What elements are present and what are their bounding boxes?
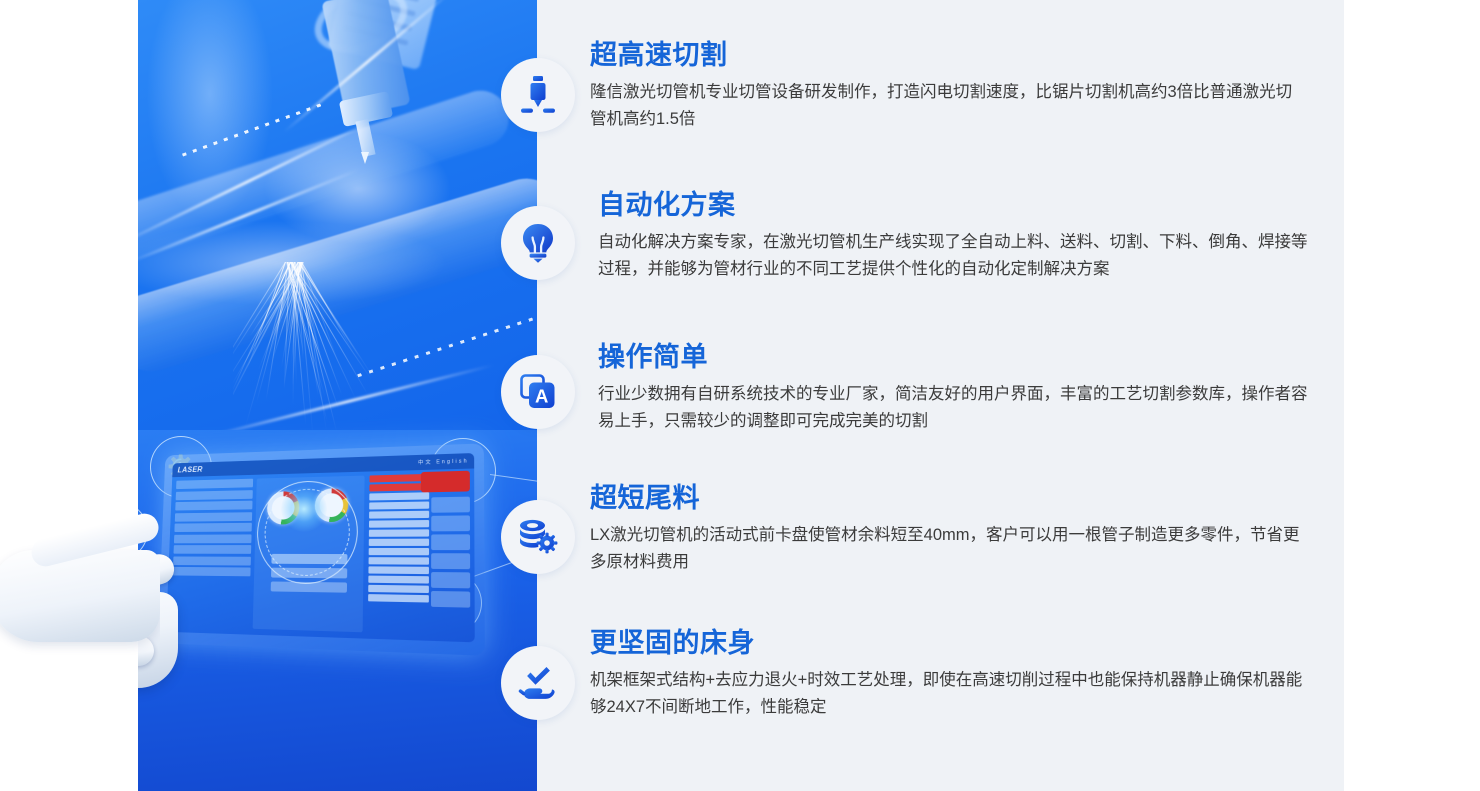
feature-text-block: 超短尾料 LX激光切管机的活动式前卡盘使管材余料短至40mm，客户可以用一根管子… bbox=[590, 483, 1344, 575]
feature-title: 更坚固的床身 bbox=[590, 628, 1344, 660]
feature-title: 超高速切割 bbox=[590, 40, 1344, 72]
hmi-logo: LASER bbox=[178, 465, 203, 474]
feature-showcase-page: ⚙️ ☁ 💻 LASER 中文 English bbox=[0, 0, 1480, 791]
laser-cutting-head-icon[interactable] bbox=[501, 58, 575, 132]
lightbulb-icon[interactable] bbox=[501, 206, 575, 280]
interface-cards-a-icon[interactable]: A bbox=[501, 355, 575, 429]
hand-check-icon[interactable] bbox=[501, 646, 575, 720]
feature-title: 超短尾料 bbox=[590, 483, 1344, 515]
feature-list: 超高速切割 隆信激光切管机专业切管设备研发制作，打造闪电切割速度，比锯片切割机高… bbox=[537, 0, 1344, 791]
feature-description: 自动化解决方案专家，在激光切管机生产线实现了全自动上料、送料、切割、下料、倒角、… bbox=[598, 229, 1313, 282]
laser-cutting-photo bbox=[138, 0, 537, 470]
feature-title: 自动化方案 bbox=[598, 190, 1352, 222]
feature-description: LX激光切管机的活动式前卡盘使管材余料短至40mm，客户可以用一根管子制造更多零… bbox=[590, 522, 1305, 575]
touch-glow bbox=[281, 486, 327, 532]
feature-description: 隆信激光切管机专业切管设备研发制作，打造闪电切割速度，比锯片切割机高约3倍比普通… bbox=[590, 79, 1305, 132]
feature-title: 操作简单 bbox=[598, 342, 1352, 374]
feature-text-block: 超高速切割 隆信激光切管机专业切管设备研发制作，打造闪电切割速度，比锯片切割机高… bbox=[590, 40, 1344, 132]
svg-text:A: A bbox=[535, 386, 548, 407]
feature-description: 行业少数拥有自研系统技术的专业厂家，简洁友好的用户界面，丰富的工艺切割参数库，操… bbox=[598, 381, 1313, 434]
hero-image: ⚙️ ☁ 💻 LASER 中文 English bbox=[138, 0, 537, 791]
hmi-parameter-list bbox=[368, 474, 429, 605]
hmi-language-switch: 中文 English bbox=[418, 457, 469, 466]
feature-description: 机架框架式结构+去应力退火+时效工艺处理，即使在高速切削过程中也能保持机器静止确… bbox=[590, 667, 1305, 720]
robotic-hand bbox=[138, 550, 288, 700]
hmi-touch-photo: ⚙️ ☁ 💻 LASER 中文 English bbox=[138, 430, 537, 791]
hud-connector-line bbox=[490, 474, 537, 484]
robot-hand-overflow bbox=[0, 470, 160, 680]
feature-text-block: 更坚固的床身 机架框架式结构+去应力退火+时效工艺处理，即使在高速切削过程中也能… bbox=[590, 628, 1344, 720]
hmi-emergency-stop bbox=[421, 471, 470, 493]
database-gear-icon[interactable] bbox=[501, 500, 575, 574]
feature-text-block: 自动化方案 自动化解决方案专家，在激光切管机生产线实现了全自动上料、送料、切割、… bbox=[598, 190, 1352, 282]
hmi-button-column bbox=[431, 497, 470, 611]
feature-text-block: 操作简单 行业少数拥有自研系统技术的专业厂家，简洁友好的用户界面，丰富的工艺切割… bbox=[598, 342, 1352, 434]
